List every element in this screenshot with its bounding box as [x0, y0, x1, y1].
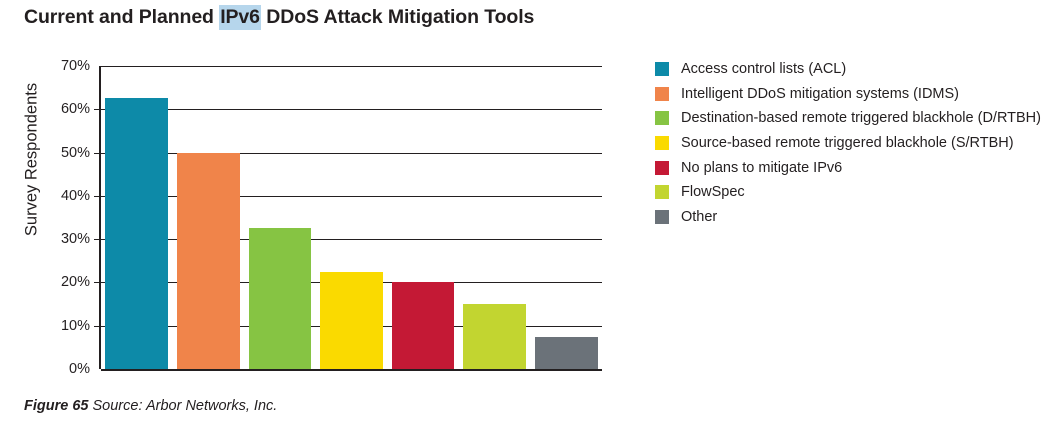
- legend-item[interactable]: FlowSpec: [655, 180, 1035, 205]
- y-axis-tick-label: 60%: [61, 101, 90, 117]
- y-axis-tick-mark: [94, 196, 101, 197]
- legend-item[interactable]: Access control lists (ACL): [655, 57, 1035, 82]
- figure-caption: Figure 65 Source: Arbor Networks, Inc.: [24, 398, 277, 414]
- bar[interactable]: [320, 272, 383, 369]
- legend-item[interactable]: Source-based remote triggered blackhole …: [655, 131, 1035, 156]
- chart-container: Survey Respondents 0%10%20%30%40%50%60%7…: [0, 46, 640, 386]
- y-axis-tick-label: 70%: [61, 58, 90, 74]
- legend-swatch-icon: [655, 185, 669, 199]
- y-axis-tick-mark: [94, 239, 101, 240]
- legend-swatch-icon: [655, 111, 669, 125]
- bar[interactable]: [535, 337, 598, 369]
- legend-item-label: Intelligent DDoS mitigation systems (IDM…: [681, 86, 959, 102]
- bar[interactable]: [392, 282, 455, 369]
- y-axis-tick-mark: [94, 109, 101, 110]
- y-axis-tick-labels: 0%10%20%30%40%50%60%70%: [36, 66, 90, 369]
- y-axis-tick-mark: [94, 153, 101, 154]
- legend-swatch-icon: [655, 62, 669, 76]
- legend-swatch-icon: [655, 136, 669, 150]
- legend-swatch-icon: [655, 161, 669, 175]
- bar[interactable]: [177, 153, 240, 369]
- y-axis-tick-mark: [94, 282, 101, 283]
- legend-item[interactable]: No plans to mitigate IPv6: [655, 155, 1035, 180]
- y-axis-tick-label: 30%: [61, 231, 90, 247]
- page-title-after: DDoS Attack Mitigation Tools: [261, 6, 534, 28]
- bar[interactable]: [105, 98, 168, 369]
- y-axis-tick-label: 0%: [69, 361, 90, 377]
- figure-source: Source: Arbor Networks, Inc.: [88, 398, 277, 414]
- legend-item[interactable]: Other: [655, 205, 1035, 230]
- legend-item-label: No plans to mitigate IPv6: [681, 160, 842, 176]
- page-title: Current and Planned IPv6 DDoS Attack Mit…: [24, 6, 534, 29]
- page-title-before: Current and Planned: [24, 6, 219, 28]
- legend-item-label: Access control lists (ACL): [681, 61, 846, 77]
- figure-number: Figure 65: [24, 398, 88, 414]
- legend-item-label: FlowSpec: [681, 184, 745, 200]
- legend: Access control lists (ACL)Intelligent DD…: [655, 57, 1035, 229]
- legend-item-label: Destination-based remote triggered black…: [681, 110, 1041, 126]
- y-axis-tick-mark: [94, 326, 101, 327]
- page-title-highlight: IPv6: [219, 5, 261, 30]
- y-axis-tick-label: 50%: [61, 145, 90, 161]
- plot-area: [99, 66, 602, 369]
- y-axis-tick-label: 20%: [61, 274, 90, 290]
- legend-swatch-icon: [655, 87, 669, 101]
- gridline: [101, 369, 602, 371]
- legend-item-label: Other: [681, 209, 717, 225]
- legend-item[interactable]: Intelligent DDoS mitigation systems (IDM…: [655, 82, 1035, 107]
- bar[interactable]: [463, 304, 526, 369]
- legend-item[interactable]: Destination-based remote triggered black…: [655, 106, 1035, 131]
- y-axis-tick-label: 10%: [61, 318, 90, 334]
- bar[interactable]: [249, 228, 312, 369]
- legend-item-label: Source-based remote triggered blackhole …: [681, 135, 1014, 151]
- bar-series: [101, 66, 602, 369]
- legend-swatch-icon: [655, 210, 669, 224]
- y-axis-tick-label: 40%: [61, 188, 90, 204]
